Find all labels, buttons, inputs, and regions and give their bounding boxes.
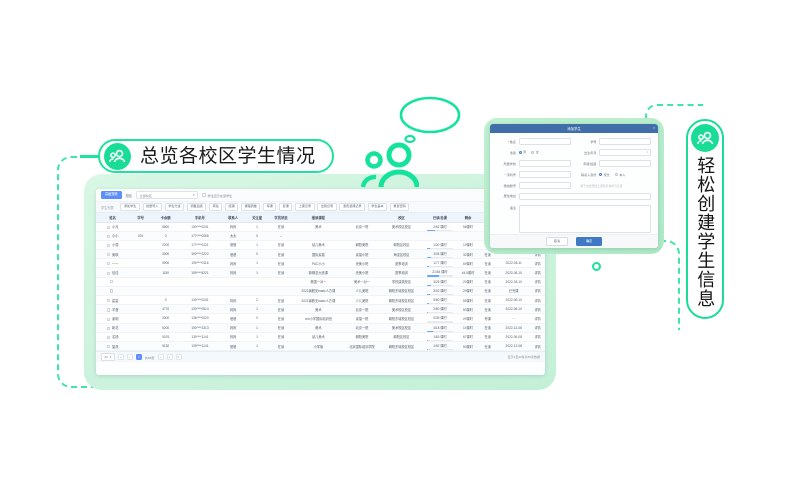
cell-course: 国际素描 <box>293 250 343 259</box>
people-icon <box>691 124 719 152</box>
row-name-text: 名扬 <box>112 335 118 339</box>
cell-progress: 5/60 课时 <box>422 296 457 305</box>
cell-progress: 4/18 课时 <box>422 323 457 332</box>
page-size-value: 20 <box>105 355 108 359</box>
th-contact[interactable]: 联系人 <box>221 213 246 222</box>
cell-campus: 朝阳东城校区校区 <box>381 314 423 323</box>
cell-end-date: 2022-03-10 <box>497 277 530 286</box>
cell-phone: 136****0020 <box>179 314 221 323</box>
toolbar-button-finish[interactable]: 结课 <box>225 203 238 212</box>
table-row[interactable]: 谢明3000136****0020爸爸0在读x/w小学国际培训班素描一院朝阳东城… <box>96 314 545 323</box>
progress-bar-fill <box>427 349 428 350</box>
total-records-info: 显示1至20条共65条数据 <box>508 355 540 359</box>
table-row[interactable]: 美琪3000190****2222爸爸0在读国际素描素描小院海淀区校区3/35 … <box>96 250 545 259</box>
field-birthday: 出生年月 ▾ <box>578 149 652 156</box>
campus-select-value: 全部校区 <box>140 193 152 198</box>
cell-course: 2021暑假无basic人方课 <box>293 286 343 295</box>
toolbar-button-basic-info[interactable]: 学生基本 <box>368 203 388 212</box>
table-row[interactable]: 2021暑假无basic人方课少儿美院朝阳东城校区校区3/32 课时29课时在读… <box>96 286 545 295</box>
cell-student-state: 在读 <box>268 222 293 231</box>
cell-student-state: 在读 <box>268 240 293 249</box>
row-name-text: 谢明 <box>112 317 118 321</box>
cell-progress: 0/35 课时 <box>422 314 457 323</box>
wechat-hint-wrap: 用于在线预约上课及查看学习记录 <box>578 182 652 189</box>
field-gender: 性别 男 女 <box>497 149 571 156</box>
cell-operation[interactable]: 详情 <box>530 314 545 323</box>
cell-operation[interactable]: 详情 <box>530 305 545 314</box>
cell-phone: 190****0116 <box>179 259 221 268</box>
cell-end-date: 2022-06-11 <box>497 259 530 268</box>
wechat-hint: 用于在线预约上课及查看学习记录 <box>581 184 623 188</box>
student-list-window: 高级搜索 校区 全部校区 ▾ 学生显示在读学生 请输入学生姓名/手机号 学生列表… <box>96 189 545 375</box>
progress-cell: 1/20 课时 <box>423 241 456 249</box>
cell-end-date: 2022-12-08 <box>497 323 530 332</box>
row-checkbox[interactable] <box>107 262 110 265</box>
cell-contact: 妈妈 <box>221 259 246 268</box>
cell-contact: 妈妈 <box>221 305 246 314</box>
in-study-checkbox[interactable]: 学生显示在读学生 <box>202 193 232 198</box>
chevron-down-icon: ▾ <box>110 355 112 359</box>
row-checkbox[interactable] <box>107 336 110 339</box>
gender-female-label: 女 <box>536 150 539 154</box>
student-table: 姓名 学号 卡余额 手机号 联系人 关注度 学员状态 报读课程 校区 已读/总课… <box>96 213 545 351</box>
cell-phone: 190****2222 <box>179 250 221 259</box>
toolbar-button-add-student[interactable]: 添加学生 <box>120 203 140 212</box>
cell-student-no <box>129 277 152 286</box>
form-row-gender-birthday: 性别 男 女 出生年月 ▾ <box>497 149 651 156</box>
create-student-badge: 轻松创建学生信息 <box>686 119 724 319</box>
table-row[interactable]: ——5000190****0116妈妈1在读PAC小小央美小院夏季培训1/77 … <box>96 259 545 268</box>
cell-phone: 130****0514 <box>179 305 221 314</box>
cell-remain <box>458 231 479 240</box>
contact-radio-parent[interactable]: 家长 <box>599 173 610 177</box>
calendar-icon: ▾ <box>647 150 648 154</box>
cell-phone: 177****0121 <box>179 240 221 249</box>
row-name-text: 佳佳 <box>112 271 118 275</box>
cell-student-no <box>129 332 152 341</box>
form-row-wechat: 微信账号 用于在线预约上课及查看学习记录 <box>497 182 651 189</box>
cell-end-date: 2022-06-10 <box>497 296 530 305</box>
cancel-button[interactable]: 取消 <box>546 237 568 246</box>
table-row[interactable]: 芊澄4770130****0514妈妈1在读美术北京一院美术校区校区2/60 课… <box>96 305 545 314</box>
row-checkbox[interactable] <box>107 226 110 229</box>
form-row-school-grade: 所属学校 年级/班级 <box>497 160 651 167</box>
cell-status: 在读 <box>478 277 497 286</box>
toolbar-button-assign-class[interactable]: 学生分班 <box>165 203 185 212</box>
progress-bar <box>427 275 453 276</box>
cell-contact: 爸爸 <box>221 341 246 350</box>
cell-student-state: -- <box>268 231 293 240</box>
cell-school: 素描一院 <box>343 314 380 323</box>
cell-course: x/w小学国际培训班 <box>293 314 343 323</box>
cell-phone <box>179 277 221 286</box>
cell-contact: 爸爸 <box>221 240 246 249</box>
wechat-input[interactable] <box>519 182 571 189</box>
table-row[interactable]: 星星0130****0241妈妈2在读2021暑假无basic人方课少儿美院朝阳… <box>96 296 545 305</box>
table-row[interactable]: 小丽2200177****0121爸爸1在读幼儿美术朝阳美院朝阳区校区1/20 … <box>96 240 545 249</box>
campus-select[interactable]: 全部校区 ▾ <box>136 191 198 199</box>
cell-progress: 3/32 课时 <box>422 286 457 295</box>
cell-operation[interactable]: 详情 <box>530 268 545 277</box>
gender-radio-female[interactable]: 女 <box>531 150 539 154</box>
cell-attention <box>246 277 269 286</box>
overview-badge-label: 总览各校区学生情况 <box>140 147 316 166</box>
prev-page-button[interactable]: ‹ <box>127 354 133 360</box>
cell-course: 幼儿美术 <box>293 240 343 249</box>
cell-balance: 1150 <box>152 268 179 277</box>
cell-school: 少儿美院 <box>343 286 380 295</box>
cell-balance: 5200 <box>152 323 179 332</box>
note-textarea[interactable] <box>519 205 652 233</box>
toolbar-button-attendance-records[interactable]: 出勤记录 <box>317 203 337 212</box>
cell-balance <box>152 277 179 286</box>
cell-name: 星星 <box>96 296 129 305</box>
cell-school: 少儿美院 <box>343 296 380 305</box>
th-course[interactable]: 报读课程 <box>293 213 343 222</box>
people-group-icon <box>361 141 419 189</box>
contact-self-label: 本人 <box>619 173 625 177</box>
advanced-search-button[interactable]: 高级搜索 <box>101 191 122 199</box>
contact-radio-group[interactable]: 家长 本人 <box>599 173 651 177</box>
toolbar-button-resume[interactable]: 复课 <box>279 203 292 212</box>
cell-attention: 1 <box>246 305 269 314</box>
toolbar-button-adjust-class[interactable]: 调整班级 <box>187 203 207 212</box>
add-student-dialog: 添加学生 × * 姓名 学号 性别 <box>490 124 658 248</box>
cell-attention: 0 <box>246 314 269 323</box>
cell-end-date: 已完课 <box>497 286 530 295</box>
close-icon[interactable]: × <box>653 126 655 130</box>
cell-phone: 190****2313 <box>179 323 221 332</box>
cell-student-state: 在读 <box>268 323 293 332</box>
grade-label: 年级/班级 <box>578 161 597 166</box>
row-name-text: 美琪 <box>112 253 118 257</box>
next-page-button[interactable]: › <box>158 354 164 360</box>
progress-bar-fill <box>427 230 435 231</box>
cell-operation[interactable]: 详情 <box>530 332 545 341</box>
toolbar-button-refund-records[interactable]: 退费退课记录 <box>339 203 365 212</box>
in-study-checkbox-label: 学生显示在读学生 <box>208 193 233 198</box>
toolbar-button-class-records[interactable]: 上课记录 <box>295 203 315 212</box>
cell-name <box>96 286 129 295</box>
progress-text: 4/18 课时 <box>423 325 456 330</box>
cell-phone: 130****0241 <box>179 296 221 305</box>
page-size-select[interactable]: 20 ▾ <box>101 353 115 362</box>
phone-input[interactable] <box>519 171 571 178</box>
cell-name: 谢明 <box>96 314 129 323</box>
contact-radio-self[interactable]: 本人 <box>615 173 626 177</box>
cell-remain: 20课时 <box>458 277 479 286</box>
cell-campus: 朝阳区校区 <box>381 332 423 341</box>
gender-radio-group[interactable]: 男 女 <box>519 150 571 154</box>
cell-phone: 177****0065 <box>179 231 221 240</box>
progress-bar-fill <box>427 248 430 249</box>
table-row[interactable]: 新花5200190****2313妈妈1在读美术北京一院美术校区校区4/18 课… <box>96 323 545 332</box>
cell-school <box>343 231 380 240</box>
contact-label: 联系人身份 <box>578 172 597 177</box>
pill-badge-tail <box>80 155 100 158</box>
row-name-text: 小月 <box>112 225 118 229</box>
progress-bar <box>427 294 453 295</box>
cell-campus: 海淀区校区 <box>381 250 423 259</box>
cell-attention: 0 <box>246 231 269 240</box>
progress-text: 3/35 课时 <box>423 251 456 256</box>
field-contact-identity: 联系人身份 家长 本人 <box>578 171 652 178</box>
cell-operation[interactable]: 详情 <box>530 286 545 295</box>
cell-course: 2021暑假无basic人方课 <box>293 296 343 305</box>
dialog-form: * 姓名 学号 性别 男 <box>490 133 658 233</box>
cell-remain: 69课时 <box>458 259 479 268</box>
cell-student-no <box>129 240 152 249</box>
progress-bar <box>427 331 453 332</box>
row-checkbox[interactable] <box>107 345 110 348</box>
cell-contact: 爸爸 <box>221 314 246 323</box>
cell-course: 幼儿美术 <box>293 332 343 341</box>
progress-cell: 5/60 课时 <box>423 296 456 304</box>
cell-name <box>96 277 129 286</box>
form-row-note: 备注 <box>497 205 651 233</box>
cell-attention: 1 <box>246 240 269 249</box>
cell-status: 在读 <box>478 268 497 277</box>
cell-course: 新概念大班课 <box>293 268 343 277</box>
birthday-input[interactable]: ▾ <box>599 149 651 156</box>
table-body: 小月5800130****0241妈妈1在读美术北京一院美术校区校区2/62 课… <box>96 222 545 351</box>
cell-remain: 29课时 <box>458 314 479 323</box>
row-name-text: 新花 <box>112 326 118 330</box>
progress-cell: 1/77 课时 <box>423 259 456 267</box>
field-phone: * 手机号 <box>497 171 571 178</box>
cell-school: 央美小院 <box>343 259 380 268</box>
cell-student-state: 在读 <box>268 250 293 259</box>
cell-progress: 3/35 课时 <box>422 250 457 259</box>
th-campus[interactable]: 校区 <box>381 213 423 222</box>
cell-student-state: 在读 <box>268 305 293 314</box>
row-checkbox[interactable] <box>110 289 113 292</box>
toolbar-button-reset-password[interactable]: 重置密码 <box>390 203 410 212</box>
table-row[interactable]: 望燕5130139****1141爸爸1在读小学版北京国际培训学院朝阳东城校区校… <box>96 341 545 350</box>
progress-cell: 3/35 课时 <box>423 250 456 258</box>
progress-bar-fill <box>427 285 431 286</box>
cell-student-no <box>129 250 152 259</box>
cell-name: 望燕 <box>96 341 129 350</box>
cell-name: 美琪 <box>96 250 129 259</box>
school-input[interactable] <box>519 160 571 167</box>
cell-phone: 139****1141 <box>179 341 221 350</box>
cell-operation[interactable]: 详情 <box>530 323 545 332</box>
cell-student-state <box>268 277 293 286</box>
cell-balance: 4770 <box>152 305 179 314</box>
wechat-label: 微信账号 <box>497 183 516 188</box>
th-name[interactable]: 姓名 <box>96 213 129 222</box>
cell-operation[interactable]: 详情 <box>530 341 545 350</box>
cell-student-no: 001 <box>129 231 152 240</box>
progress-bar <box>427 303 453 304</box>
th-phone[interactable]: 手机号 <box>179 213 221 222</box>
first-page-button[interactable]: « <box>118 354 124 360</box>
cell-remain: 32课时 <box>458 250 479 259</box>
cell-student-no <box>129 296 152 305</box>
cell-operation[interactable]: 详情 <box>530 259 545 268</box>
last-page-button[interactable]: » <box>167 354 173 360</box>
cell-remain: 67课时 <box>458 332 479 341</box>
cell-progress: 1/52 课时 <box>422 341 457 350</box>
table-row[interactable]: 佳佳1150199****5221妈妈1在读新概念大班课央美小院夏季培训21/6… <box>96 268 545 277</box>
phone-label: * 手机号 <box>497 172 516 177</box>
radio-dot <box>599 173 602 176</box>
field-student-no: 学号 <box>578 138 652 145</box>
cell-attention: 1 <box>246 259 269 268</box>
table-footer: 20 ▾ « ‹ 1 共65页 › » ↻ 显示1至20条共65条数据 <box>96 351 545 362</box>
progress-text: 1/20 课时 <box>423 242 456 247</box>
cell-balance: 5800 <box>152 222 179 231</box>
row-checkbox[interactable] <box>107 235 110 238</box>
checkbox-box <box>202 193 205 196</box>
cell-contact: 妈妈 <box>221 222 246 231</box>
progress-text: 3/32 课时 <box>423 288 456 293</box>
table-row[interactable]: 名扬5076130****1141妈妈1在读幼儿美术朝阳美院朝阳区校区1/63 … <box>96 332 545 341</box>
cell-contact: 妈妈 <box>221 268 246 277</box>
cell-contact <box>221 286 246 295</box>
th-student-no[interactable]: 学号 <box>129 213 152 222</box>
connector-dot <box>592 262 601 271</box>
current-page-button[interactable]: 1 <box>136 354 142 360</box>
progress-bar <box>427 349 453 350</box>
cell-remain: 44.5课时 <box>458 268 479 277</box>
cell-name: 新花 <box>96 323 129 332</box>
th-remain[interactable]: 剩余 <box>458 213 479 222</box>
dialog-footer: 取消 确定 <box>490 234 658 248</box>
cell-status: 在读 <box>478 305 497 314</box>
action-toolbar: 学生列表 添加学生 批量导入 学生分班 调整班级 转班 结课 课程调整 停课 复… <box>96 202 545 213</box>
note-label: 备注 <box>497 205 516 210</box>
cell-remain: 14课时 <box>458 323 479 332</box>
dialog-title-bar: 添加学生 × <box>490 124 658 133</box>
cell-student-no <box>129 341 152 350</box>
row-checkbox[interactable] <box>107 318 110 321</box>
cell-status: 在读 <box>478 286 497 295</box>
table-row[interactable]: 小月5800130****0241妈妈1在读美术北京一院美术校区校区2/62 课… <box>96 222 545 231</box>
student-no-input[interactable] <box>599 138 651 145</box>
cell-end-date: 2022-06-10 <box>497 305 530 314</box>
progress-bar <box>427 248 453 249</box>
cell-progress: 1/20 课时 <box>422 240 457 249</box>
grade-input[interactable] <box>599 160 651 167</box>
row-name-text: —— <box>112 261 118 265</box>
cell-attention: 2 <box>246 296 269 305</box>
progress-cell: 2/60 课时 <box>423 305 456 313</box>
cell-attention: 1 <box>246 332 269 341</box>
confirm-button[interactable]: 确定 <box>576 237 602 246</box>
cell-end-date: 2022-06-08 <box>497 332 530 341</box>
th-school[interactable] <box>343 213 380 222</box>
cell-school: 北京一院 <box>343 305 380 314</box>
progress-text: 21/64 课时 <box>423 269 456 274</box>
cell-remain: 53课时 <box>458 341 479 350</box>
filter-bar: 高级搜索 校区 全部校区 ▾ 学生显示在读学生 请输入学生姓名/手机号 <box>96 189 545 202</box>
row-checkbox[interactable] <box>110 280 113 283</box>
th-progress[interactable]: 已读/总课 <box>422 213 457 222</box>
th-student-state[interactable]: 学员状态 <box>268 213 293 222</box>
field-name: * 姓名 <box>497 138 571 145</box>
cell-progress: 21/64 课时 <box>422 268 457 277</box>
row-checkbox[interactable] <box>107 299 110 302</box>
row-checkbox[interactable] <box>107 253 110 256</box>
cell-operation[interactable]: 详情 <box>530 296 545 305</box>
form-row-phone-contact: * 手机号 联系人身份 家长 本人 <box>497 171 651 178</box>
name-label: * 姓名 <box>497 139 516 144</box>
cell-attention: 1 <box>246 341 269 350</box>
progress-text: 5/60 课时 <box>423 297 456 302</box>
cell-operation[interactable]: 详情 <box>530 277 545 286</box>
cell-balance: 5000 <box>152 259 179 268</box>
cell-attention <box>246 286 269 295</box>
progress-cell: 4/18 课时 <box>423 324 456 332</box>
toolbar-button-transfer[interactable]: 转班 <box>209 203 222 212</box>
people-icon <box>104 143 131 170</box>
cell-name: 佳佳 <box>96 268 129 277</box>
table-row[interactable]: 小小0010177****0065太太0--详情 <box>96 231 545 240</box>
address-input[interactable] <box>519 193 652 200</box>
toolbar-button-course-adjust[interactable]: 课程调整 <box>241 203 261 212</box>
cell-campus: 美术校区校区 <box>381 305 423 314</box>
cell-attention: 1 <box>246 268 269 277</box>
row-checkbox[interactable] <box>107 327 110 330</box>
cell-campus: 夏季培训 <box>381 268 423 277</box>
cell-student-state <box>268 286 293 295</box>
cell-balance: 3000 <box>152 314 179 323</box>
cell-name: 名扬 <box>96 332 129 341</box>
row-checkbox[interactable] <box>107 244 110 247</box>
toolbar-button-batch-import[interactable]: 批量导入 <box>143 203 163 212</box>
row-name-text: 小丽 <box>112 243 118 247</box>
cell-campus: 朝阳东城校区校区 <box>381 341 423 350</box>
name-input[interactable] <box>519 138 571 145</box>
cell-progress: 1/63 课时 <box>422 332 457 341</box>
progress-cell: 2/62 课时 <box>423 223 456 231</box>
refresh-icon[interactable]: ↻ <box>176 354 182 360</box>
campus-filter-label: 校区 <box>126 193 132 198</box>
field-school: 所属学校 <box>497 160 571 167</box>
radio-dot <box>531 151 534 154</box>
progress-cell: 3/25 课时 <box>423 278 456 286</box>
cell-student-no <box>129 323 152 332</box>
field-grade: 年级/班级 <box>578 160 652 167</box>
cell-campus: 学校建筑校区 <box>381 277 423 286</box>
cell-status: 在读 <box>478 296 497 305</box>
cell-student-no <box>129 222 152 231</box>
cell-end-date: 2022-12-08 <box>497 341 530 350</box>
gender-radio-male[interactable]: 男 <box>519 150 527 154</box>
table-header-row: 姓名 学号 卡余额 手机号 联系人 关注度 学员状态 报读课程 校区 已读/总课… <box>96 213 545 222</box>
school-label: 所属学校 <box>497 161 516 166</box>
cell-course: PAC小小 <box>293 259 343 268</box>
cell-student-state: 在读 <box>268 314 293 323</box>
progress-text: 1/63 课时 <box>423 334 456 339</box>
cell-status: 在读 <box>478 332 497 341</box>
cell-progress: 2/60 课时 <box>422 305 457 314</box>
row-checkbox[interactable] <box>107 272 110 275</box>
cell-contact <box>221 277 246 286</box>
toolbar-button-suspend[interactable]: 停课 <box>263 203 276 212</box>
cell-course: 美术 <box>293 222 343 231</box>
th-balance[interactable]: 卡余额 <box>152 213 179 222</box>
cell-campus: 朝阳东城校区校区 <box>381 286 423 295</box>
cell-balance: 2200 <box>152 240 179 249</box>
cell-student-no <box>129 286 152 295</box>
table-row[interactable]: 美国一对一美术一对一学校建筑校区3/25 课时20课时在读2022-03-10详… <box>96 277 545 286</box>
row-checkbox[interactable] <box>107 308 110 311</box>
th-attention[interactable]: 关注度 <box>246 213 269 222</box>
cell-status: 在读 <box>478 259 497 268</box>
